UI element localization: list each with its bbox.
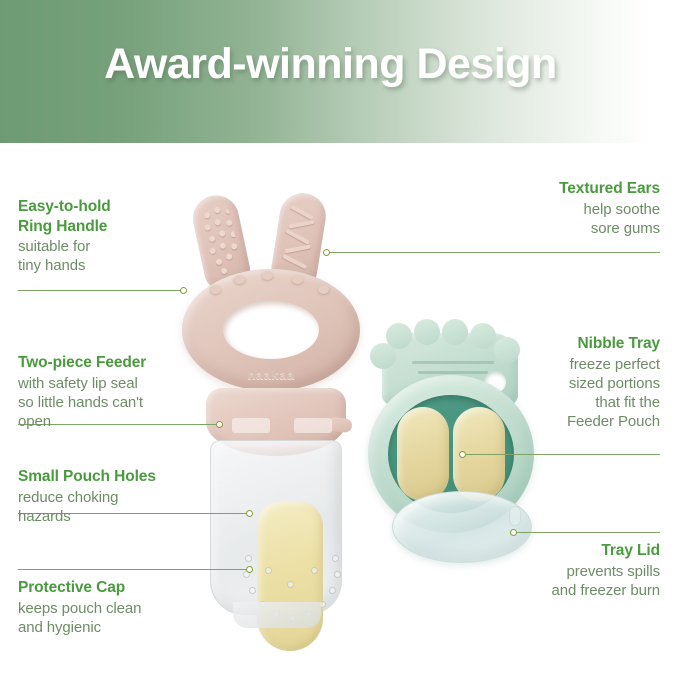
infographic-page: Award-winning Design: [0, 0, 679, 679]
callout-title: Tray Lid: [430, 541, 660, 561]
callout-body-line: and freezer burn: [552, 582, 660, 599]
header-banner: Award-winning Design: [0, 0, 679, 143]
leader-line-textured-ears: [328, 252, 660, 253]
callout-protective-cap: Protective Cap keeps pouch clean and hyg…: [18, 578, 218, 637]
callout-body-line: hazards: [18, 508, 71, 525]
callout-body: freeze perfect sized portions that fit t…: [430, 355, 660, 431]
leader-line-ring-handle: [18, 290, 184, 291]
callout-two-piece-feeder: Two-piece Feeder with safety lip seal so…: [18, 353, 218, 431]
callout-body-line: so little hands can't: [18, 394, 143, 411]
leader-dot-ring-handle: [180, 287, 187, 294]
ring-opening: [223, 301, 319, 359]
callout-body: keeps pouch clean and hygienic: [18, 599, 218, 637]
callout-ring-handle: Easy-to-hold Ring Handle suitable for ti…: [18, 197, 203, 275]
leader-line-nibble-tray: [464, 454, 660, 455]
leader-dot-pouch-holes: [246, 510, 253, 517]
leader-dot-tray-lid: [510, 529, 517, 536]
callout-body-line: Feeder Pouch: [567, 413, 660, 430]
callout-title: Textured Ears: [440, 179, 660, 199]
callout-body-line: prevents spills: [566, 563, 660, 580]
callout-tray-lid: Tray Lid prevents spills and freezer bur…: [430, 541, 660, 600]
callout-title: Two-piece Feeder: [18, 353, 218, 373]
callout-body-line: sore gums: [591, 220, 660, 237]
callout-nibble-tray: Nibble Tray freeze perfect sized portion…: [430, 334, 660, 431]
leader-line-protective-cap: [18, 569, 250, 570]
callout-body-line: tiny hands: [18, 257, 85, 274]
callout-title: Small Pouch Holes: [18, 467, 218, 487]
callout-small-pouch-holes: Small Pouch Holes reduce choking hazards: [18, 467, 218, 526]
callout-title: Nibble Tray: [430, 334, 660, 354]
callout-body: help soothe sore gums: [440, 200, 660, 238]
callout-body-line: with safety lip seal: [18, 375, 138, 392]
tray-lid-tab: [509, 506, 521, 526]
callout-body-line: and hygienic: [18, 619, 101, 636]
callout-body: with safety lip seal so little hands can…: [18, 374, 218, 431]
leader-dot-protective-cap: [246, 566, 253, 573]
callout-title: Easy-to-hold Ring Handle: [18, 197, 203, 236]
callout-body-line: sized portions: [569, 375, 660, 392]
callout-body: prevents spills and freezer burn: [430, 562, 660, 600]
page-title: Award-winning Design: [0, 42, 679, 87]
callout-body-line: suitable for: [18, 238, 90, 255]
callout-body: reduce choking hazards: [18, 488, 218, 526]
lip-seal-tabs: [232, 418, 342, 434]
callout-textured-ears: Textured Ears help soothe sore gums: [440, 179, 660, 238]
small-pouch-holes: [241, 551, 341, 651]
protective-clear-cap: [210, 440, 342, 615]
callout-body-line: help soothe: [584, 201, 660, 218]
callout-title-line: Ring Handle: [18, 218, 107, 235]
ear-texture-zigzag: [279, 200, 320, 277]
callout-title-line: Easy-to-hold: [18, 198, 111, 215]
callout-body-line: keeps pouch clean: [18, 600, 141, 617]
callout-body-line: open: [18, 413, 51, 430]
leader-dot-nibble-tray: [459, 451, 466, 458]
callout-body: suitable for tiny hands: [18, 237, 203, 275]
ear-texture-dots: [198, 202, 243, 280]
leader-line-tray-lid: [516, 532, 660, 533]
leader-dot-textured-ears: [323, 249, 330, 256]
callout-body-line: that fit the: [595, 394, 660, 411]
callout-body-line: reduce choking: [18, 489, 118, 506]
callout-title: Protective Cap: [18, 578, 218, 598]
feeder-base: [233, 602, 321, 628]
callout-body-line: freeze perfect: [570, 356, 660, 373]
